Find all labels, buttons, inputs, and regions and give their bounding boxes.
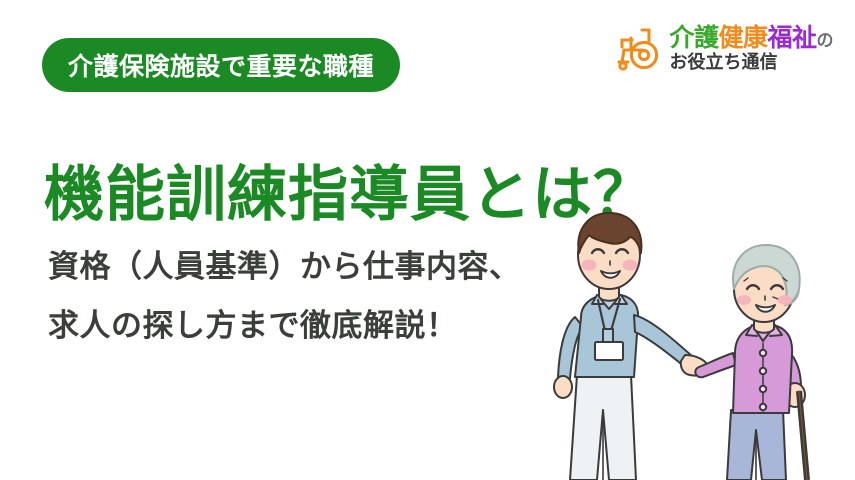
logo-line-primary: 介護健康福祉の (669, 26, 833, 51)
logo-segment-kaigo: 介護 (669, 24, 718, 52)
logo-segment-no: の (817, 31, 834, 50)
category-badge-label: 介護保険施設で重要な職種 (68, 47, 374, 83)
subtitle-line-1: 資格（人員基準）から仕事内容、 (48, 238, 521, 297)
subtitle-block: 資格（人員基準）から仕事内容、 求人の探し方まで徹底解説！ (48, 238, 521, 356)
logo-segment-kenkou: 健康 (718, 24, 767, 52)
caregiver-and-elderly-woman-illustration (535, 205, 855, 480)
banner-root: 介護健康福祉の お役立ち通信 介護保険施設で重要な職種 機能訓練指導員とは？ 資… (0, 0, 855, 480)
category-badge: 介護保険施設で重要な職種 (42, 38, 400, 92)
site-logo[interactable]: 介護健康福祉の お役立ち通信 (611, 24, 833, 72)
logo-text-block: 介護健康福祉の お役立ち通信 (669, 26, 833, 71)
subtitle-line-2: 求人の探し方まで徹底解説！ (48, 297, 521, 356)
logo-line-secondary: お役立ち通信 (669, 53, 777, 71)
wheelchair-icon (611, 24, 663, 72)
logo-segment-fukushi: 福祉 (767, 24, 816, 52)
